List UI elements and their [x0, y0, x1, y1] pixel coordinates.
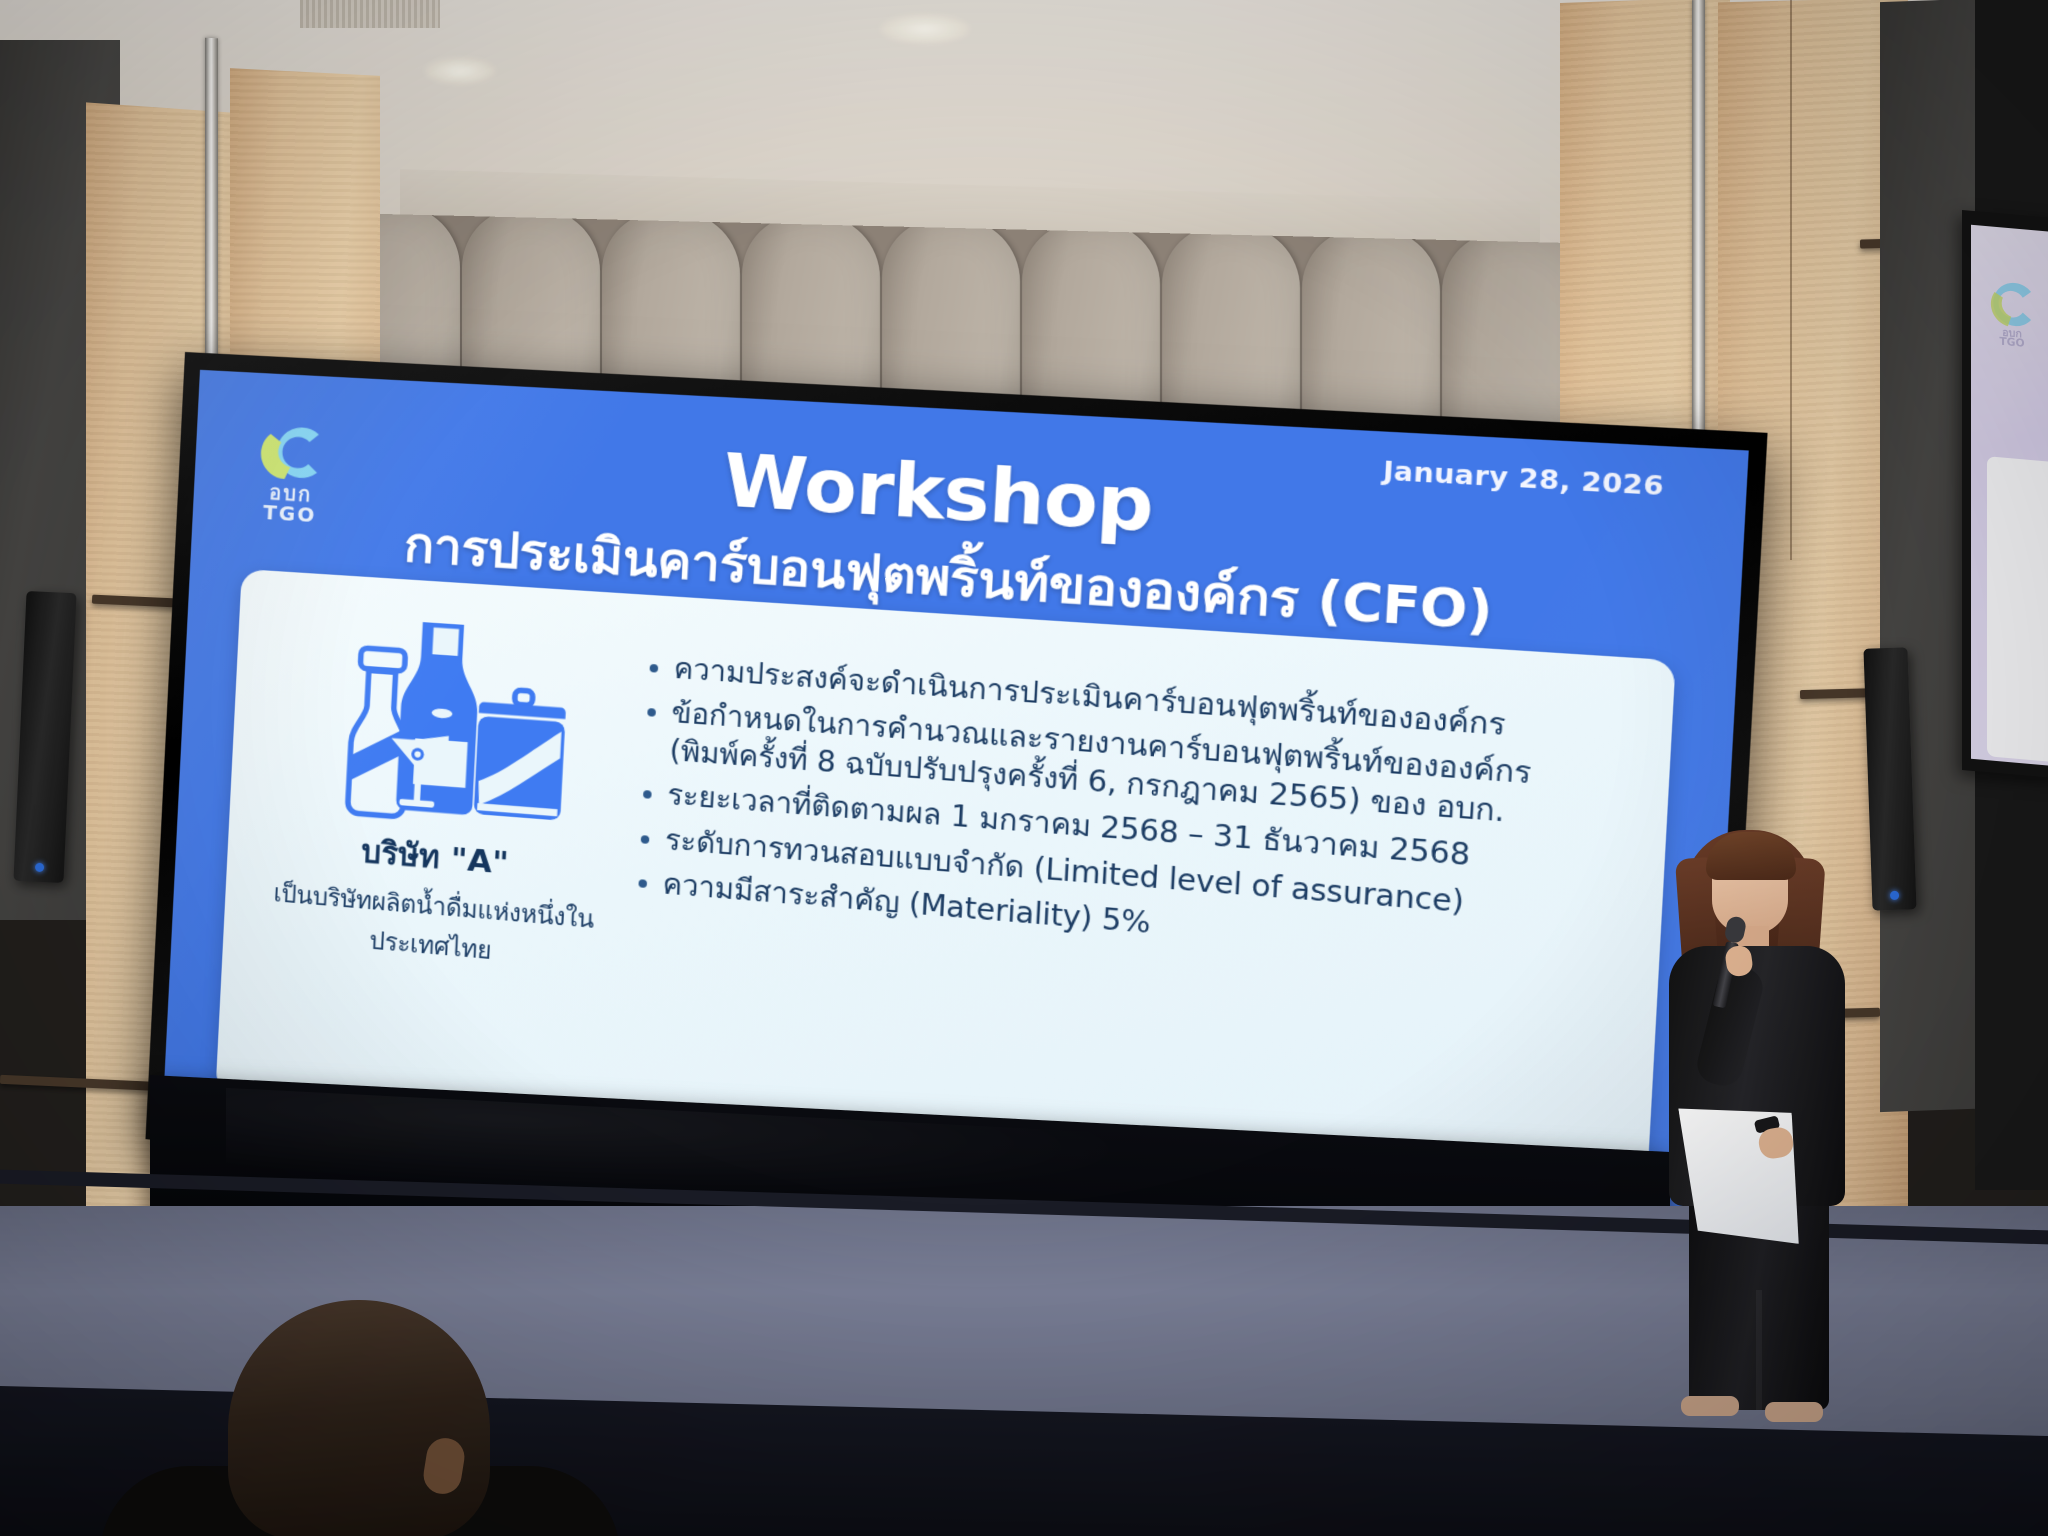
bullet-dot-icon [641, 835, 650, 844]
requirements-bullet-list: ความประสงค์จะดำเนินการประเมินคาร์บอนฟุตพ… [630, 648, 1642, 982]
presenter [1655, 818, 1905, 1428]
conference-hall-scene: อบก TGO อบก TGO [0, 0, 2048, 1536]
beverage-bottles-can-icon [315, 605, 571, 835]
side-display-card [1987, 456, 2048, 765]
tgo-circular-c-logo: อบก TGO [1983, 276, 2041, 351]
ceiling-light-icon [880, 14, 970, 44]
bullet-dot-icon [647, 708, 656, 717]
ceiling-vent-icon [300, 0, 440, 28]
side-display-frame: อบก TGO [1962, 210, 2048, 778]
bullet-dot-icon [643, 790, 652, 799]
presenter-shoe [1765, 1402, 1823, 1422]
company-panel: บริษัท "A" เป็นบริษัทผลิตน้ำดื่มแห่งหนึ่… [223, 569, 640, 981]
requirements-panel: ความประสงค์จะดำเนินการประเมินคาร์บอนฟุตพ… [624, 594, 1676, 992]
bullet-dot-icon [649, 664, 658, 673]
paper-sheet [1678, 1105, 1807, 1248]
ceiling-light-icon [425, 58, 495, 84]
presenter-shoe [1681, 1396, 1739, 1416]
svg-text:TGO: TGO [1999, 335, 2024, 350]
bullet-dot-icon [638, 879, 647, 888]
side-display-screen: อบก TGO [1971, 225, 2048, 768]
